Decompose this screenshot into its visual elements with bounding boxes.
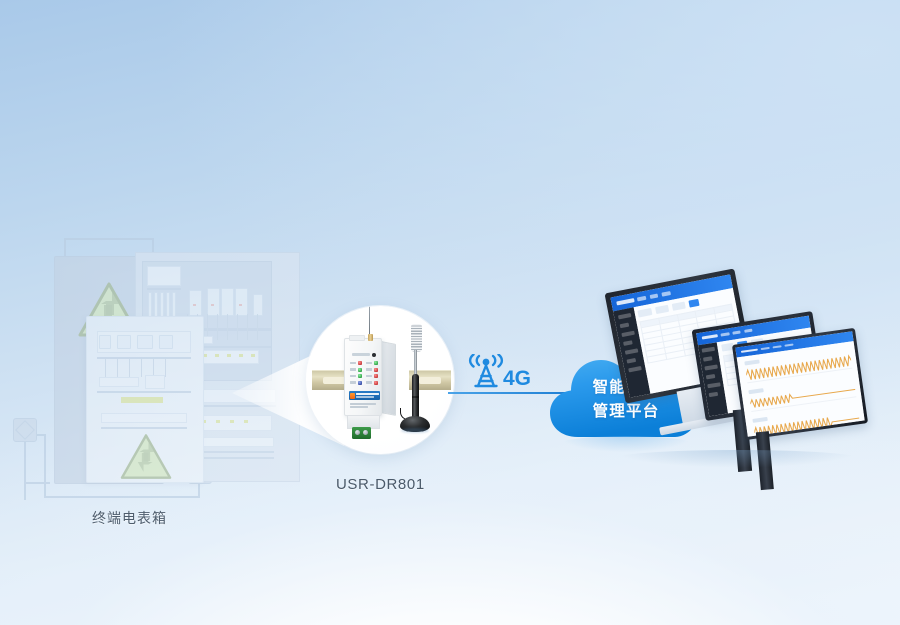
breaker-group — [189, 290, 202, 316]
4g-text: 4G — [503, 367, 531, 390]
terminal-meter-cabinet-illustration — [8, 238, 300, 500]
sma-connector — [368, 334, 373, 341]
magnetic-antenna — [398, 324, 432, 440]
lower-terminal-strip — [101, 413, 187, 423]
antenna-magnetic-base — [400, 416, 430, 432]
relay-row — [196, 415, 272, 431]
meter-module — [147, 266, 181, 286]
cell-tower-4g-icon: 4G — [466, 354, 538, 392]
device-top-tab — [349, 335, 365, 341]
led-row-2-left — [350, 368, 363, 372]
led-row-3-left — [350, 374, 363, 378]
electrical-hazard-icon-lower — [119, 433, 173, 481]
usr-logo-icon — [350, 393, 355, 399]
dashboard-monitors — [596, 278, 866, 458]
led-row-3-right — [366, 374, 379, 378]
status-led-grid — [350, 361, 379, 385]
led-row-4-left — [350, 381, 363, 385]
terminal-screw-1 — [355, 430, 360, 435]
usr-dr801-device — [344, 338, 396, 434]
led-row-1-right — [366, 361, 379, 365]
device-front-panel — [344, 338, 382, 416]
device-side-panel — [381, 341, 396, 416]
model-text-lines — [350, 403, 376, 409]
contactor-row — [197, 350, 259, 364]
cabinet-front-door — [86, 316, 204, 483]
terminal-screw-2 — [363, 430, 368, 435]
led-row-4-right — [366, 381, 379, 385]
monitor-screen-waveform[interactable] — [735, 331, 864, 437]
led-row-1-left — [350, 361, 363, 365]
led-row-2-right — [366, 368, 379, 372]
antenna-coil — [411, 324, 422, 352]
reset-button-row — [352, 352, 376, 357]
monitors-reflection — [612, 450, 862, 468]
green-terminal-block — [352, 427, 371, 439]
brand-text-lines — [356, 393, 379, 397]
reset-label — [352, 353, 370, 356]
device-callout-circle — [306, 306, 454, 454]
conduit-junction-left — [13, 418, 37, 442]
reset-button[interactable] — [372, 353, 376, 357]
scene-background: 终端电表箱 — [0, 0, 900, 625]
panel-caption: 终端电表箱 — [92, 508, 167, 528]
device-caption: USR-DR801 — [336, 476, 425, 493]
antenna-wire — [369, 306, 370, 334]
monitor-dashboard-waveform — [732, 328, 868, 440]
brand-logo-plate — [349, 391, 380, 400]
